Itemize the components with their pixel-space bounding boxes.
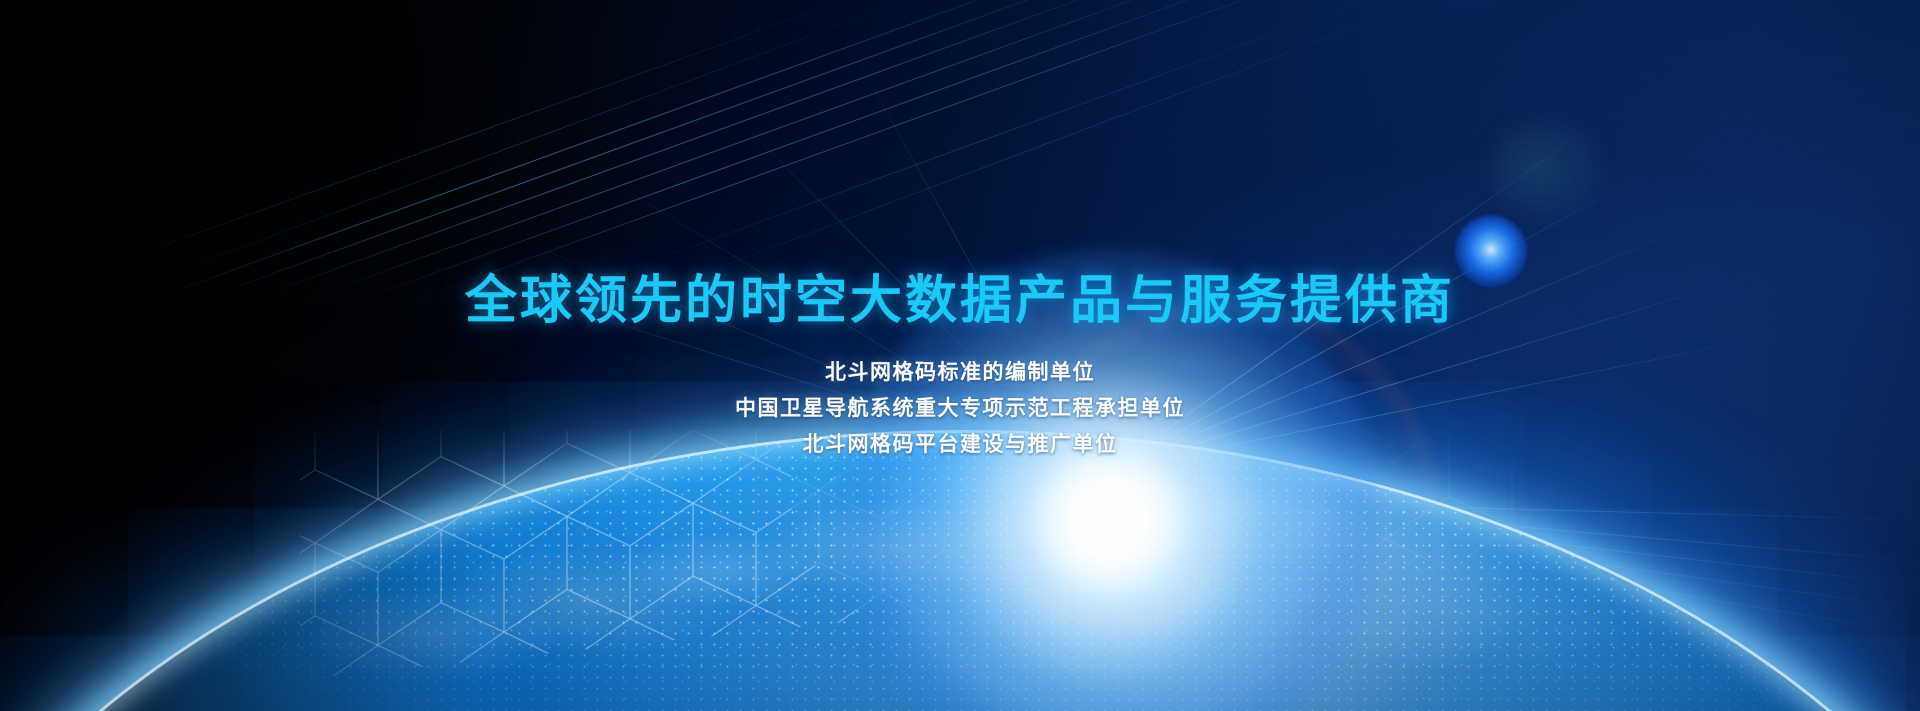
subtitle-line-3: 北斗网格码平台建设与推广单位 <box>0 428 1920 458</box>
lens-flare-ghost-icon <box>1490 120 1600 216</box>
subtitle-line-2: 中国卫星导航系统重大专项示范工程承担单位 <box>0 392 1920 422</box>
subtitle-line-1: 北斗网格码标准的编制单位 <box>0 356 1920 386</box>
sun-core <box>1035 445 1185 595</box>
page-title: 全球领先的时空大数据产品与服务提供商 <box>0 258 1920 333</box>
hero-banner: 全球领先的时空大数据产品与服务提供商 北斗网格码标准的编制单位 中国卫星导航系统… <box>0 0 1920 711</box>
